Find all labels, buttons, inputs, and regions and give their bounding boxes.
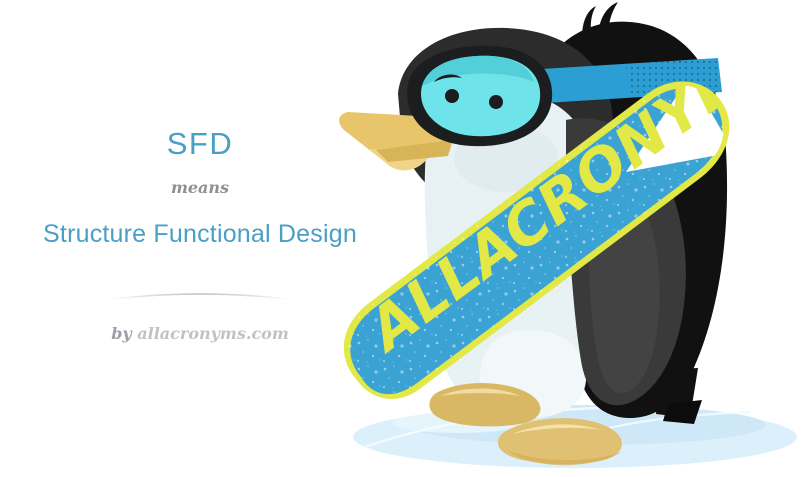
source-prefix: by: [111, 324, 137, 343]
acronym-card: SFD means Structure Functional Design b: [0, 0, 801, 477]
penguin-illustration: ALLACRONYMS: [330, 0, 801, 477]
acronym-expansion: Structure Functional Design: [40, 218, 360, 251]
divider: [110, 288, 290, 302]
source-domain: allacronyms.com: [137, 324, 289, 343]
